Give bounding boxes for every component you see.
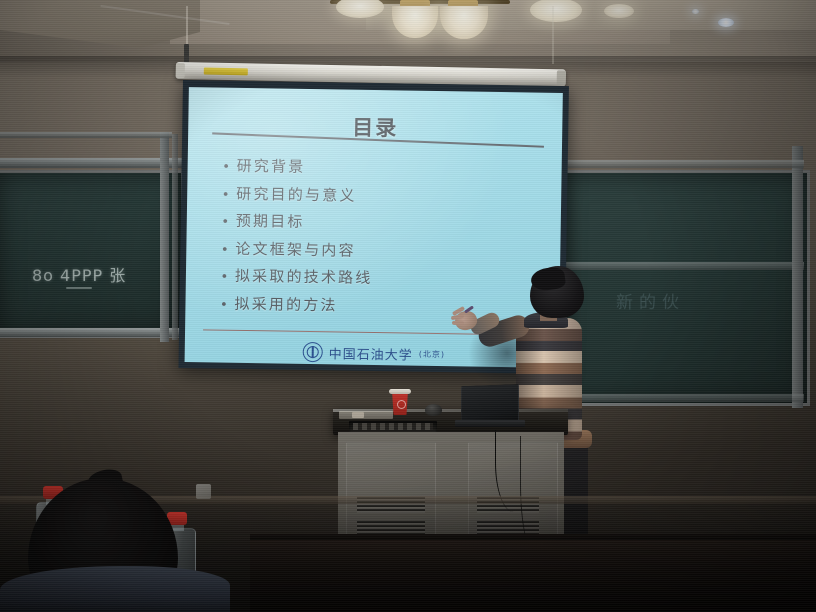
presenter-finger <box>452 321 464 325</box>
list-item: • 研究目的与意义 <box>223 183 543 208</box>
roller-label-sticker <box>204 68 248 76</box>
screen-hanger-cable <box>552 6 554 64</box>
ceiling-light-icon <box>604 4 634 18</box>
list-item: • 研究背景 <box>224 156 544 181</box>
slide-bullet-list: • 研究背景 • 研究目的与意义 • 预期目标 • 论文框架与内容 • 拟采 <box>221 156 544 326</box>
coffee-cup-logo-icon <box>397 400 406 409</box>
coffee-cup-lid <box>389 389 411 394</box>
bullet-label: 预期目标 <box>236 211 305 232</box>
list-item: • 论文框架与内容 <box>222 238 542 263</box>
blackboard-divider-right <box>556 262 804 270</box>
laptop-base[interactable] <box>455 420 525 427</box>
bullet-dot-icon: • <box>223 183 236 203</box>
list-item: • 拟采取的技术路线 <box>222 266 542 291</box>
organization-suffix: (北京) <box>419 348 445 359</box>
blackboard-frame-right <box>792 146 803 408</box>
blackboard-rail-left <box>0 158 184 168</box>
downlight-icon <box>718 18 734 27</box>
bullet-label: 论文框架与内容 <box>235 238 356 260</box>
podium-control-buttons[interactable] <box>353 423 433 430</box>
university-seal-icon <box>303 342 323 362</box>
organization-name: 中国石油大学 <box>329 343 413 363</box>
roller-end-cap <box>176 63 185 78</box>
list-item: • 预期目标 <box>223 211 543 236</box>
blackboard-track-left <box>0 132 172 138</box>
blackboard-tray-left <box>0 328 184 337</box>
blackboard-left <box>0 170 184 338</box>
bullet-label: 拟采用的方法 <box>234 293 338 315</box>
blackboard-frame-left-inner <box>172 134 178 340</box>
photo-scene: 8o 4PPP 张 新的伙 目录 • 研究背景 • 研究目的与意义 <box>0 0 816 612</box>
bullet-dot-icon: • <box>223 211 236 231</box>
bullet-label: 研究目的与意义 <box>236 183 357 205</box>
chalk-underline-left <box>66 287 92 289</box>
computer-mouse[interactable] <box>425 404 442 416</box>
blackboard-tray-right <box>556 394 804 402</box>
podium-control-strip[interactable] <box>339 411 393 419</box>
bullet-label: 拟采取的技术路线 <box>235 266 373 288</box>
slide-footer-logo: 中国石油大学 (北京) <box>303 342 446 364</box>
bullet-dot-icon: • <box>222 238 235 258</box>
bullet-dot-icon: • <box>224 156 237 176</box>
roller-end-cap <box>557 70 566 85</box>
bullet-dot-icon: • <box>221 293 234 313</box>
podium-brand-badge <box>352 412 364 418</box>
blackboard-frame-left <box>160 132 169 342</box>
bullet-label: 研究背景 <box>237 156 306 177</box>
chalk-text-left: 8o 4PPP 张 <box>32 262 126 286</box>
downlight-icon <box>692 9 699 14</box>
bullet-dot-icon: • <box>222 266 235 286</box>
chalk-text-right: 新的伙 <box>616 288 685 313</box>
audience-shoulder <box>0 566 230 612</box>
blackboard-track-right <box>556 160 804 168</box>
